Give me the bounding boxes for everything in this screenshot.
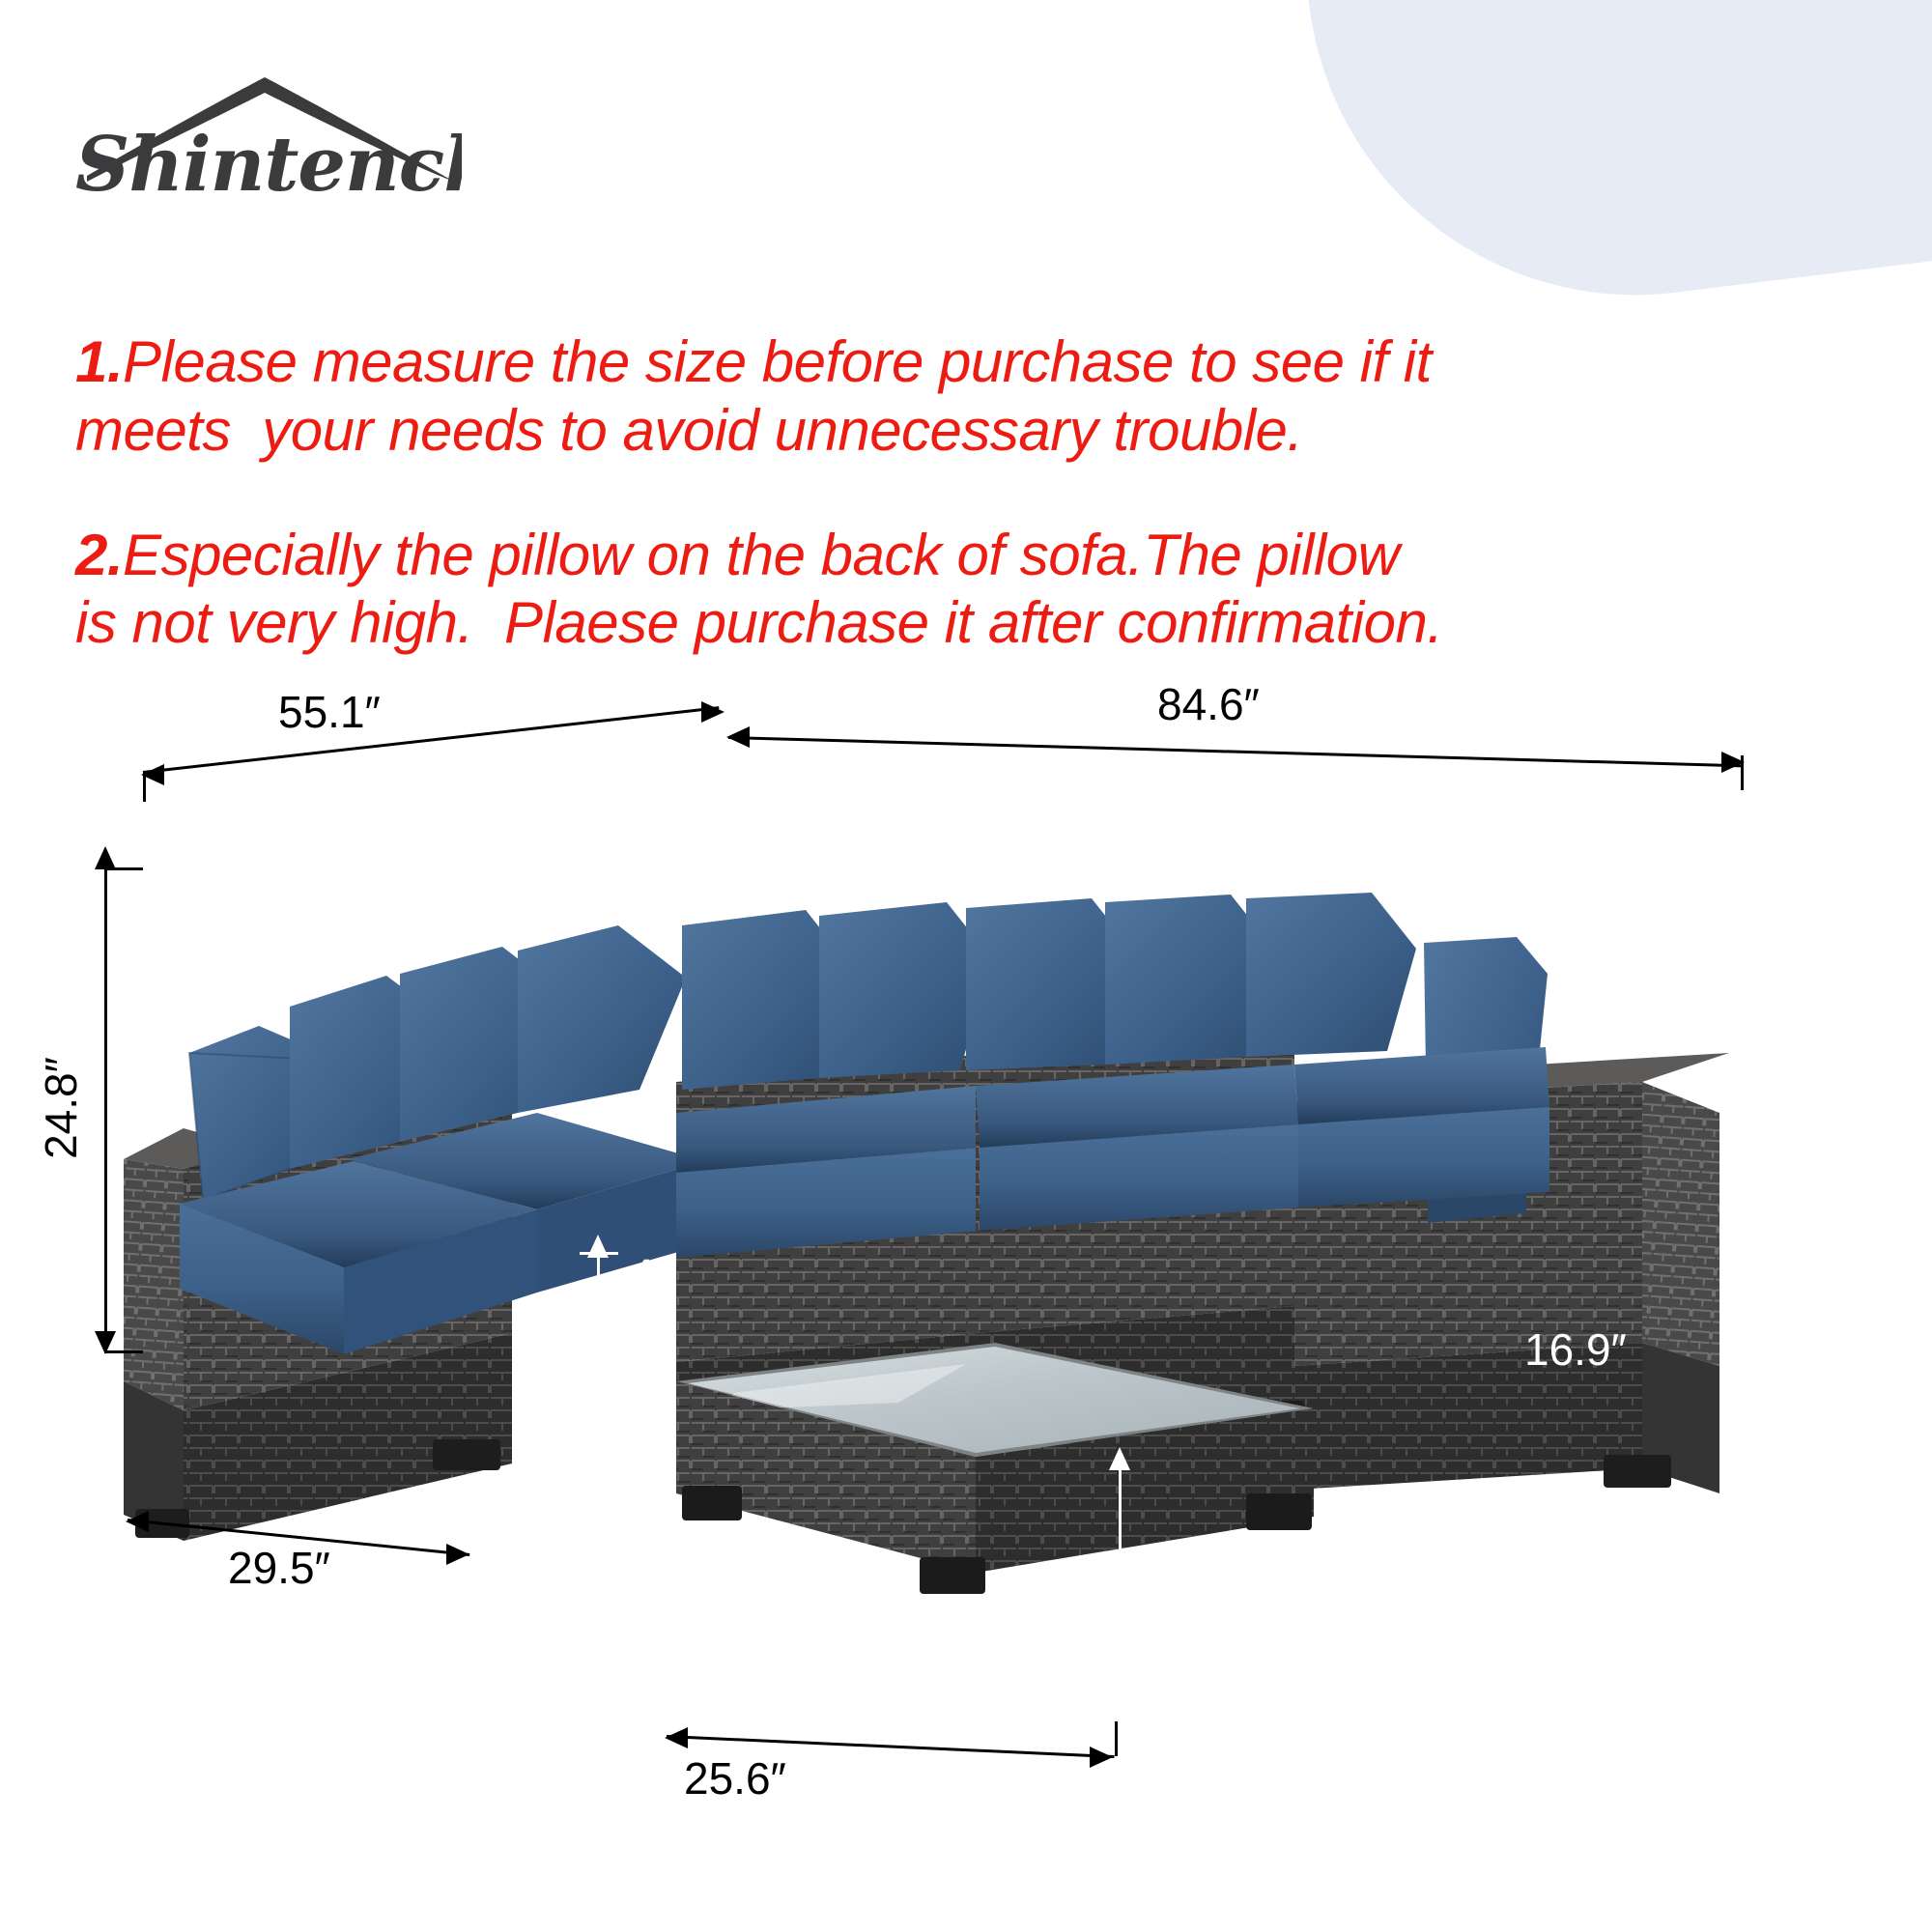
back-pillow-middle-2 — [819, 902, 991, 1078]
dimension-sofa-length-label: 84.6″ — [1157, 678, 1260, 730]
arrow-down-icon — [1725, 1648, 1747, 1671]
notice-item-2-text-1: Especially the pillow on the back of sof… — [123, 523, 1399, 587]
arrow-right-icon — [1090, 1747, 1113, 1768]
corner-decoration — [1284, 0, 1932, 332]
arrow-left-icon — [126, 1511, 149, 1532]
notice-item-1-text-1: Please measure the size before purchase … — [123, 329, 1432, 394]
product-diagram: 55.1″ 84.6″ 24.8″ 4″ 16.9″ 29. — [0, 667, 1932, 1932]
extension-tick — [104, 1350, 143, 1353]
dimension-seat-height-line — [1735, 1107, 1738, 1667]
dimension-seat-depth-label: 29.5″ — [228, 1542, 330, 1594]
notice-item-1-number: 1. — [75, 329, 123, 394]
notice-item-1-line-1: 1.Please measure the size before purchas… — [75, 328, 1853, 397]
dimension-corner-width-label: 55.1″ — [278, 686, 381, 738]
arrow-left-icon — [665, 1727, 688, 1748]
back-pillow-left-4 — [518, 925, 686, 1113]
arrow-right-icon — [701, 701, 724, 723]
dimension-table-width-label: 25.6″ — [684, 1752, 786, 1804]
seat-cushion-middle — [676, 1086, 980, 1258]
notice-item-2: 2.Especially the pillow on the back of s… — [75, 522, 1853, 659]
brand-logo: Shintenchi — [75, 60, 462, 219]
dimension-overall-height-label: 24.8″ — [35, 1016, 87, 1200]
notice-item-1-line-2: meets your needs to avoid unnecessary tr… — [75, 397, 1853, 466]
back-pillow-right-3 — [1246, 893, 1416, 1057]
notice-item-2-number: 2. — [75, 523, 123, 587]
dimension-table-height-line — [1119, 1466, 1122, 1745]
seat-cushion-right-1 — [976, 1065, 1298, 1231]
arrow-down-icon — [1109, 1725, 1130, 1748]
arrow-up-icon — [1109, 1447, 1130, 1470]
dimension-table-height-label: 13″ — [1146, 1534, 1210, 1586]
dimension-overall-height-line — [104, 867, 107, 1350]
arrow-left-icon — [726, 726, 750, 748]
extension-tick — [104, 867, 143, 870]
dimension-seat-height-label: 16.9″ — [1524, 1323, 1627, 1376]
furniture-illustration — [0, 667, 1932, 1932]
dimension-cushion-thickness-label: 4″ — [626, 1246, 675, 1309]
arrow-up-icon — [1725, 1088, 1747, 1111]
notice-item-2-line-1: 2.Especially the pillow on the back of s… — [75, 522, 1853, 590]
extension-tick — [143, 771, 146, 802]
arrow-up-icon — [95, 846, 116, 869]
extension-tick — [1115, 1721, 1118, 1756]
notice-block: 1.Please measure the size before purchas… — [75, 328, 1853, 658]
seat-cushion-right-2 — [1294, 1047, 1549, 1207]
extension-tick — [580, 1337, 618, 1340]
notice-item-2-line-2: is not very high. Plaese purchase it aft… — [75, 589, 1853, 658]
arrow-right-icon — [446, 1544, 469, 1565]
extension-tick — [1741, 755, 1744, 790]
notice-item-1: 1.Please measure the size before purchas… — [75, 328, 1853, 466]
logo-wordmark: Shintenchi — [75, 121, 462, 209]
extension-tick — [580, 1252, 618, 1255]
